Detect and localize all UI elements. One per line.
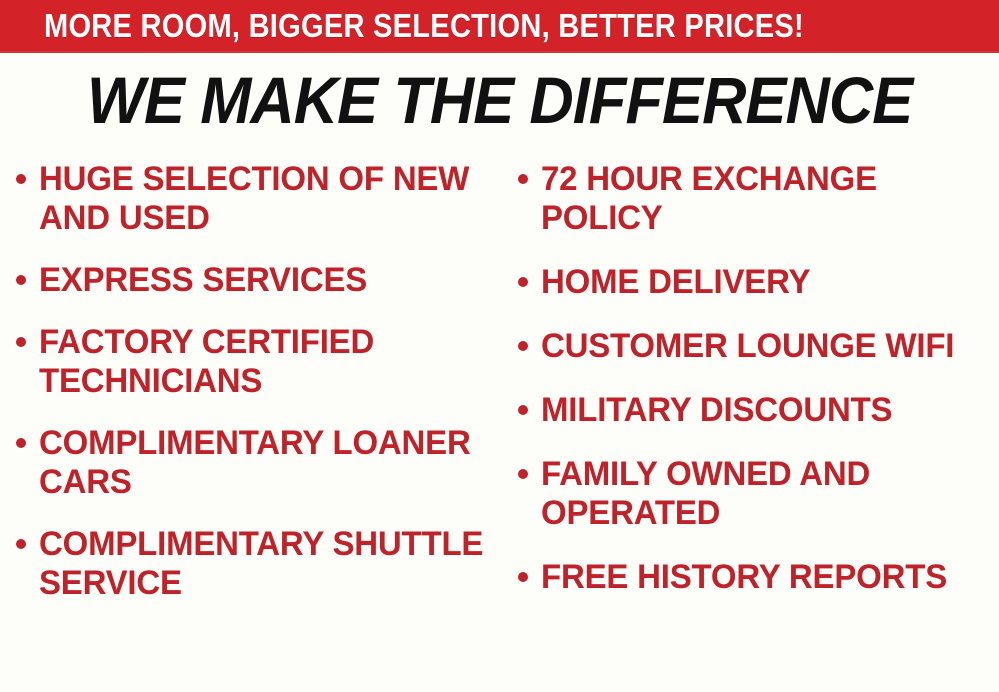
list-item: HOME DELIVERY [518,263,999,302]
feature-label: EXPRESS SERVICES [39,261,367,300]
dealership-promo-banner: MORE ROOM, BIGGER SELECTION, BETTER PRIC… [0,0,999,692]
bullet-icon [16,539,26,549]
feature-label: MILITARY DISCOUNTS [541,391,892,430]
list-item: FREE HISTORY REPORTS [518,558,999,597]
promo-ribbon-text: MORE ROOM, BIGGER SELECTION, BETTER PRIC… [44,9,804,42]
list-item: HUGE SELECTION OF NEW AND USED [16,160,505,238]
feature-label: COMPLIMENTARY LOANER CARS [39,424,491,502]
bullet-icon [518,277,528,287]
list-item: FAMILY OWNED AND OPERATED [518,455,999,533]
feature-label: FREE HISTORY REPORTS [541,558,947,597]
features-right-column: 72 HOUR EXCHANGE POLICY HOME DELIVERY CU… [505,160,999,622]
bullet-icon [518,174,528,184]
promo-ribbon: MORE ROOM, BIGGER SELECTION, BETTER PRIC… [0,0,999,53]
feature-label: COMPLIMENTARY SHUTTLE SERVICE [39,525,491,603]
bullet-icon [16,438,26,448]
list-item: COMPLIMENTARY LOANER CARS [16,424,505,502]
features-columns: HUGE SELECTION OF NEW AND USED EXPRESS S… [0,160,999,626]
feature-label: HOME DELIVERY [541,263,810,302]
bullet-icon [518,405,528,415]
page-title: WE MAKE THE DIFFERENCE [87,66,912,134]
feature-label: HUGE SELECTION OF NEW AND USED [39,160,491,238]
feature-label: FAMILY OWNED AND OPERATED [541,455,985,533]
headline-container: WE MAKE THE DIFFERENCE [0,66,999,134]
bullet-icon [518,572,528,582]
feature-label: CUSTOMER LOUNGE WIFI [541,327,954,366]
list-item: EXPRESS SERVICES [16,261,505,300]
list-item: COMPLIMENTARY SHUTTLE SERVICE [16,525,505,603]
list-item: MILITARY DISCOUNTS [518,391,999,430]
list-item: FACTORY CERTIFIED TECHNICIANS [16,323,505,401]
features-left-column: HUGE SELECTION OF NEW AND USED EXPRESS S… [0,160,505,626]
feature-label: 72 HOUR EXCHANGE POLICY [541,160,985,238]
bullet-icon [16,337,26,347]
list-item: 72 HOUR EXCHANGE POLICY [518,160,999,238]
bullet-icon [16,174,26,184]
feature-label: FACTORY CERTIFIED TECHNICIANS [39,323,491,401]
bullet-icon [518,469,528,479]
list-item: CUSTOMER LOUNGE WIFI [518,327,999,366]
bullet-icon [518,341,528,351]
bullet-icon [16,275,26,285]
